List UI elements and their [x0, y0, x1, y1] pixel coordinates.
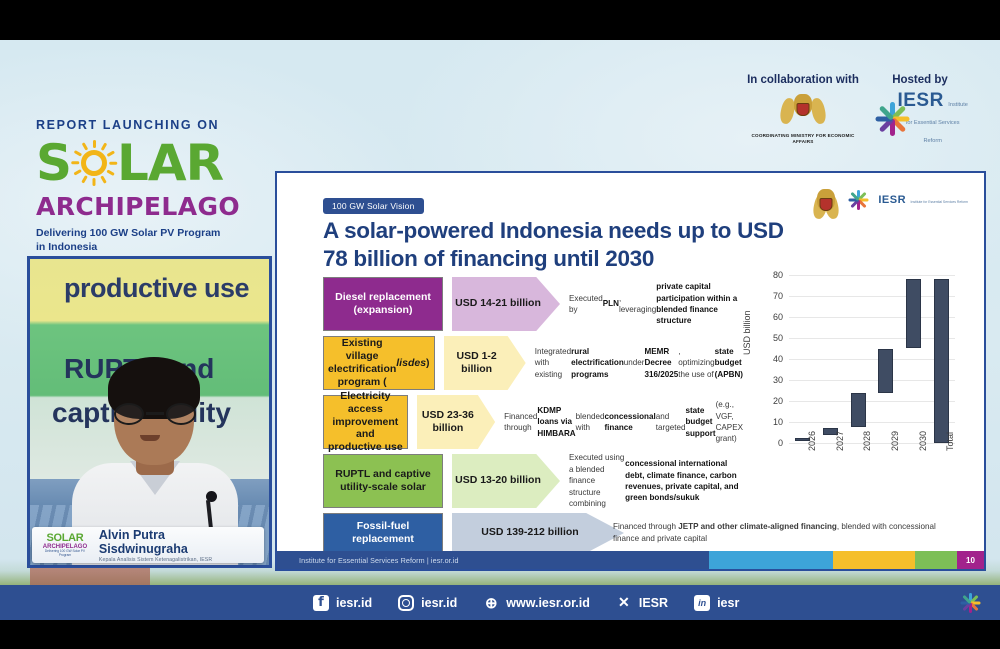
report-kicker: REPORT LAUNCHING ON	[36, 118, 276, 132]
chart-y-tick: 0	[778, 438, 783, 448]
row-amount: USD 139-212 billion	[452, 513, 624, 553]
row-description: Executed by PLN, leveraging private capi…	[569, 277, 743, 331]
solar-wordmark: S LAR	[36, 136, 276, 190]
chart-bar	[851, 393, 866, 428]
row-description: Financed through JETP and other climate-…	[613, 521, 953, 544]
row-amount: USD 14-21 billion	[452, 277, 560, 331]
social-label: www.iesr.or.id	[506, 596, 590, 610]
chart-gridline	[789, 380, 955, 381]
nameplate-logo-sub: Delivering 100 GW Solar PV Program	[39, 550, 91, 556]
ministry-caption: COORDINATING MINISTRY FOR ECONOMIC AFFAI…	[744, 133, 862, 144]
row-category: Fossil-fuel replacement	[323, 513, 443, 553]
table-row: Electricity access improvement and produ…	[323, 395, 743, 449]
social-link[interactable]: iesr.id	[398, 595, 457, 611]
microphone-icon	[206, 491, 217, 502]
footer-swatch-blue	[709, 551, 833, 569]
social-link[interactable]: ⊕www.iesr.or.id	[483, 595, 590, 611]
social-link[interactable]: iniesr	[694, 595, 739, 611]
social-link[interactable]: ✕IESR	[616, 595, 668, 611]
chart-gridline	[789, 401, 955, 402]
social-media-bar: fiesr.idiesr.id⊕www.iesr.or.id✕IESRinies…	[0, 585, 1000, 620]
chart-y-tick: 40	[773, 354, 783, 364]
financing-breakdown-table: Diesel replacement (expansion)USD 14-21 …	[323, 277, 743, 558]
row-amount: USD 23-36 billion	[417, 395, 495, 449]
speaker-role: Kepala Analisis Sistem Ketenagalistrikan…	[99, 557, 257, 563]
solar-letters-lar: LAR	[117, 138, 223, 188]
footer-swatch-yellow	[833, 551, 915, 569]
chart-y-tick: 10	[773, 417, 783, 427]
glasses-icon	[112, 403, 198, 425]
nameplate-logo: SOLAR ARCHIPELAGO Delivering 100 GW Sola…	[39, 533, 91, 556]
instagram-icon	[398, 595, 414, 611]
chart-y-axis-label: USD billion	[742, 310, 752, 355]
chart-plot-area: 0102030405060708020262027202820292030Tot…	[789, 275, 955, 443]
row-category: Electricity access improvement and produ…	[323, 395, 408, 449]
chart-x-tick: 2026	[807, 431, 817, 451]
nameplate-logo-solar: SOLAR	[39, 533, 91, 544]
slide-iesr-text: IESR Institute for Essential Services Re…	[878, 190, 968, 208]
chart-x-tick: 2027	[835, 431, 845, 451]
chart-y-tick: 30	[773, 375, 783, 385]
chart-x-tick: Total	[945, 432, 955, 451]
row-description: Executed using a blended finance structu…	[569, 454, 743, 508]
branding-subtitle: Delivering 100 GW Solar PV Program in In…	[36, 226, 276, 254]
ministry-garuda-icon	[780, 92, 826, 132]
chart-gridline	[789, 359, 955, 360]
row-category: Existing village electrification program…	[323, 336, 435, 390]
chart-bar	[906, 279, 921, 348]
slide-garuda-icon	[813, 187, 839, 211]
row-category: Diesel replacement (expansion)	[323, 277, 443, 331]
chart-bar	[934, 279, 949, 443]
row-description: Financed through KDMP loans via HIMBARA …	[504, 395, 743, 449]
x-twitter-icon: ✕	[616, 595, 632, 611]
social-label: iesr.id	[336, 596, 372, 610]
projected-line1: productive use	[64, 273, 249, 304]
host-block: Hosted by IESR Institute for Essential S…	[872, 74, 968, 147]
social-label: IESR	[639, 596, 668, 610]
iesr-swirl-icon	[872, 99, 891, 139]
collaboration-label: In collaboration with	[744, 74, 862, 86]
iesr-logo: IESR Institute for Essential Services Re…	[872, 91, 968, 147]
slide-title-line1: A solar-powered Indonesia needs up to US…	[323, 217, 933, 245]
chart-bar	[878, 349, 893, 393]
slide-iesr-tagline: Institute for Essential Services Reform	[911, 200, 968, 204]
slide-iesr-swirl-icon	[847, 188, 870, 211]
chart-gridline	[789, 338, 955, 339]
chart-y-tick: 80	[773, 270, 783, 280]
table-row: RUPTL and captive utility-scale solarUSD…	[323, 454, 743, 508]
social-link[interactable]: fiesr.id	[313, 595, 372, 611]
letterbox-bottom	[0, 620, 1000, 649]
slide-logos: IESR Institute for Essential Services Re…	[813, 187, 968, 211]
hosted-by-label: Hosted by	[872, 74, 968, 86]
chart-y-tick: 20	[773, 396, 783, 406]
slide-page-number: 10	[957, 551, 984, 569]
solar-letter-s: S	[36, 138, 71, 188]
footer-swatch-green	[915, 551, 957, 569]
social-label: iesr	[717, 596, 739, 610]
chart-x-tick: 2028	[862, 431, 872, 451]
facebook-icon: f	[313, 595, 329, 611]
linkedin-icon: in	[694, 595, 710, 611]
globe-icon: ⊕	[483, 595, 499, 611]
chart-y-tick: 60	[773, 312, 783, 322]
row-amount: USD 13-20 billion	[452, 454, 560, 508]
letterbox-top	[0, 0, 1000, 40]
social-label: iesr.id	[421, 596, 457, 610]
presenter-video-tile[interactable]: productive use RUPTL and captive utility	[27, 256, 272, 568]
row-description: Integrated with existing rural electrifi…	[535, 336, 743, 390]
slide-footer-text: Institute for Essential Services Reform …	[277, 551, 709, 569]
collaboration-block: In collaboration with COORDINATING MINIS…	[744, 74, 862, 144]
chart-y-tick: 70	[773, 291, 783, 301]
chart-y-tick: 50	[773, 333, 783, 343]
corner-iesr-swirl-icon	[960, 592, 982, 614]
chart-gridline	[789, 296, 955, 297]
table-row: Diesel replacement (expansion)USD 14-21 …	[323, 277, 743, 331]
row-amount: USD 1-2 billion	[444, 336, 526, 390]
slide-iesr-name: IESR	[878, 194, 906, 206]
chart-gridline	[789, 422, 955, 423]
archipelago-wordmark: ARCHIPELAGO	[36, 192, 276, 221]
slide-section-tag: 100 GW Solar Vision	[323, 198, 424, 214]
financing-waterfall-chart: USD billion 0102030405060708020262027202…	[745, 269, 973, 497]
chart-gridline	[789, 275, 955, 276]
event-branding: REPORT LAUNCHING ON S LAR ARCHIPELAGO	[36, 118, 276, 254]
chart-x-tick: 2030	[918, 431, 928, 451]
slide-title: A solar-powered Indonesia needs up to US…	[323, 217, 933, 274]
chart-x-tick: 2029	[890, 431, 900, 451]
branding-subtitle-line2: in Indonesia	[36, 240, 276, 254]
row-category: RUPTL and captive utility-scale solar	[323, 454, 443, 508]
table-row: Existing village electrification program…	[323, 336, 743, 390]
presentation-slide[interactable]: 100 GW Solar Vision IESR Institute for E…	[275, 171, 986, 571]
branding-subtitle-line1: Delivering 100 GW Solar PV Program	[36, 226, 276, 240]
speaker-nameplate: SOLAR ARCHIPELAGO Delivering 100 GW Sola…	[32, 527, 264, 563]
sun-icon	[72, 141, 116, 185]
webinar-stream-frame: REPORT LAUNCHING ON S LAR ARCHIPELAGO	[0, 0, 1000, 649]
speaker-name: Alvin Putra Sisdwinugraha	[99, 528, 257, 556]
slide-footer: Institute for Essential Services Reform …	[277, 551, 984, 569]
chart-gridline	[789, 317, 955, 318]
